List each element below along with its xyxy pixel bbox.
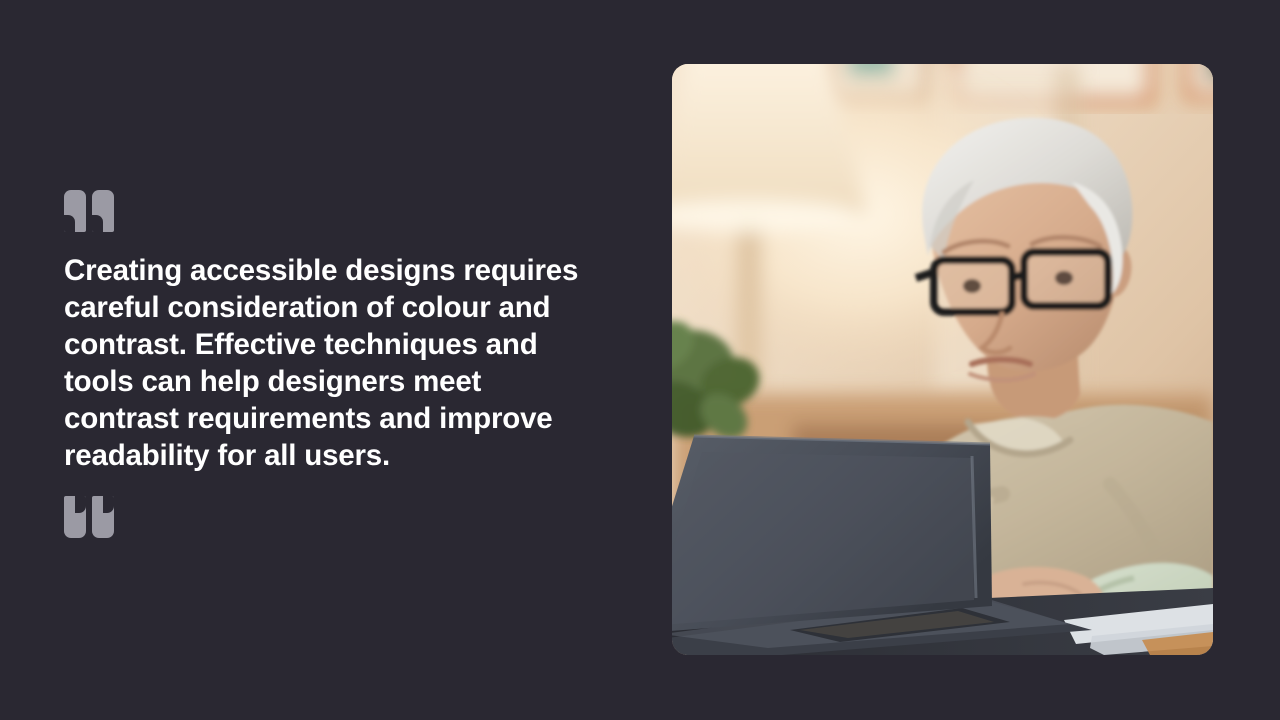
closing-quote-icon bbox=[64, 496, 116, 538]
opening-quote-icon bbox=[64, 190, 116, 232]
quote-panel: Creating accessible designs requires car… bbox=[64, 190, 604, 538]
quote-text: Creating accessible designs requires car… bbox=[64, 252, 604, 474]
portrait-photo-illustration bbox=[672, 64, 1213, 655]
portrait-photo bbox=[672, 64, 1213, 655]
slide-root: Creating accessible designs requires car… bbox=[0, 0, 1280, 720]
